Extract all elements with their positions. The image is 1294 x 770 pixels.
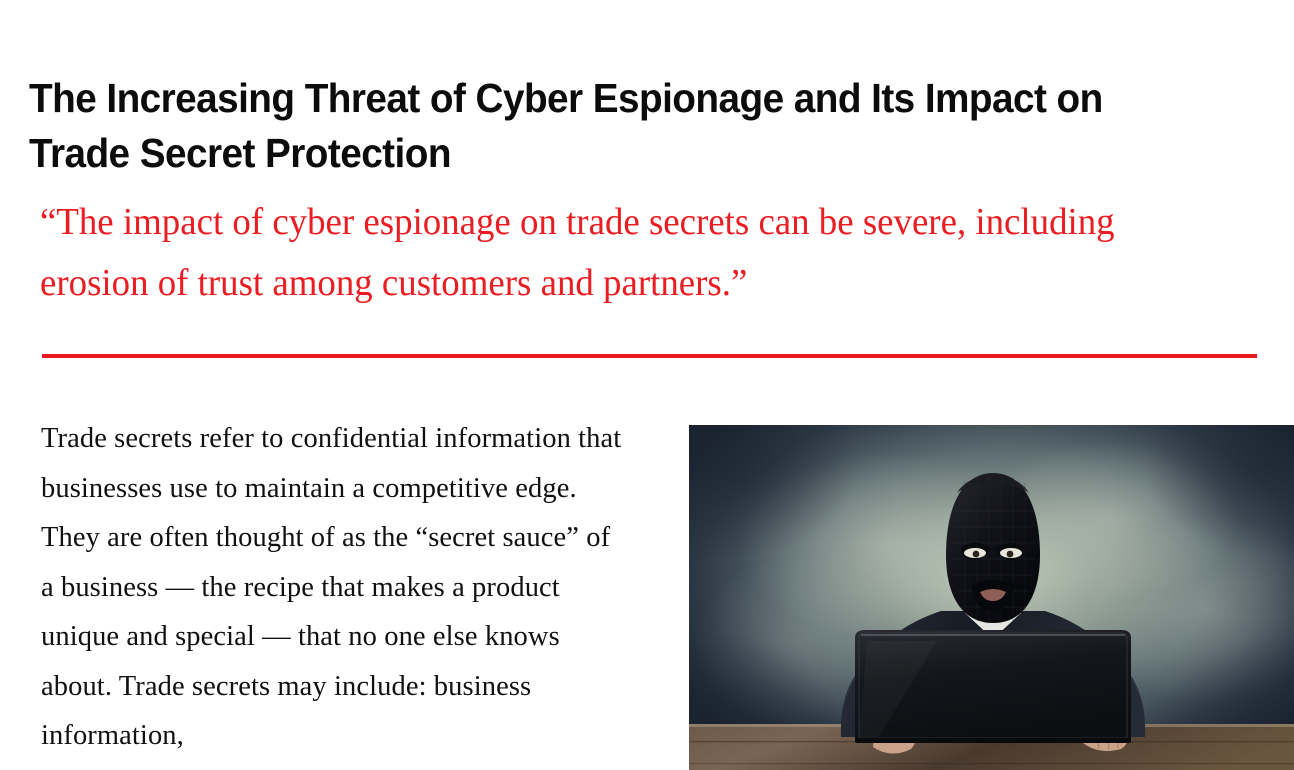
section-divider: [42, 354, 1257, 358]
article-page: The Increasing Threat of Cyber Espionage…: [0, 0, 1294, 770]
body-column: Trade secrets refer to confidential info…: [41, 414, 626, 770]
hacker-illustration: [689, 425, 1294, 770]
page-title: The Increasing Threat of Cyber Espionage…: [29, 71, 1206, 181]
body-paragraph: Trade secrets refer to confidential info…: [41, 414, 626, 761]
article-photo: [689, 425, 1294, 770]
pull-quote: “The impact of cyber espionage on trade …: [40, 192, 1219, 314]
